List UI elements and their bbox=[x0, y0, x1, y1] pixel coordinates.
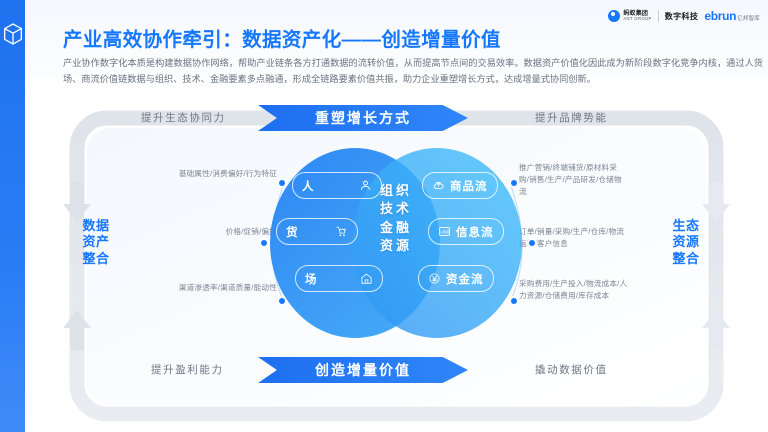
annotation-right-2: 订单/销量/采购/生产/仓库/物流运输/客户信息 bbox=[519, 226, 631, 250]
annotation-left-1: 基础属性/消费偏好/行为特征 bbox=[177, 168, 277, 180]
venn-diagram: 人 货 场 商品流 bbox=[270, 148, 522, 338]
label-bottom-right: 撬动数据价值 bbox=[535, 362, 608, 377]
annotation-right-1: 推广营销/终端铺货/原材料采购/销售/生产/产品研发/仓储物流 bbox=[519, 162, 627, 197]
ebrun-logo: ebrun 亿邦智库 bbox=[704, 9, 760, 23]
venn-item-huo-label: 货 bbox=[286, 224, 299, 240]
side-label-left: 数据 资产 整合 bbox=[65, 218, 127, 267]
venn-center-label: 组织 技术 金融 资源 bbox=[380, 182, 424, 256]
venn-item-info-flow-label: 信息流 bbox=[456, 224, 494, 240]
venn-item-goods-flow-label: 商品流 bbox=[450, 178, 488, 194]
logo-divider bbox=[658, 10, 659, 22]
house-icon bbox=[360, 272, 373, 285]
diagram-canvas: 重塑增长方式 创造增量价值 提升生态协同力 提升品牌势能 提升盈利能力 撬动数据… bbox=[25, 100, 768, 432]
person-icon bbox=[359, 179, 372, 192]
venn-item-money-flow-label: 资金流 bbox=[446, 271, 484, 287]
left-rail bbox=[0, 0, 25, 432]
connector-dot bbox=[261, 240, 267, 246]
page-title: 产业高效协作牵引：数据资产化——创造增量价值 bbox=[63, 23, 501, 52]
yuan-icon bbox=[428, 272, 441, 285]
bar-chart-icon bbox=[438, 225, 451, 238]
ant-group-logo: 蚂蚁集团 ANT GROUP bbox=[608, 10, 651, 22]
label-top-right: 提升品牌势能 bbox=[535, 110, 608, 125]
connector-dot bbox=[529, 240, 535, 246]
ebrun-wordmark: ebrun bbox=[704, 9, 736, 23]
cart-icon bbox=[335, 225, 348, 238]
ant-group-en: ANT GROUP bbox=[623, 17, 651, 21]
annotation-left-2: 价格/促销/偏好 bbox=[177, 226, 277, 238]
ant-mark-icon bbox=[608, 10, 620, 22]
venn-item-goods-flow[interactable]: 商品流 bbox=[422, 172, 498, 199]
venn-item-money-flow[interactable]: 资金流 bbox=[418, 265, 494, 292]
label-top-left: 提升生态协同力 bbox=[141, 110, 226, 125]
venn-item-ren-label: 人 bbox=[302, 178, 315, 194]
ebrun-sub-label: 亿邦智库 bbox=[737, 14, 760, 22]
venn-item-ren[interactable]: 人 bbox=[292, 172, 382, 199]
banner-top[interactable]: 重塑增长方式 bbox=[258, 105, 468, 131]
venn-item-huo[interactable]: 货 bbox=[276, 218, 358, 245]
cloud-icon bbox=[432, 179, 445, 192]
page-description: 产业协作数字化本质是构建数据协作网络，帮助产业链条各方打通数据的流转价值，从而提… bbox=[63, 55, 763, 87]
venn-item-chang[interactable]: 场 bbox=[295, 265, 383, 292]
ant-digital-tech-label: 数字科技 bbox=[665, 11, 699, 22]
banner-bottom[interactable]: 创造增量价值 bbox=[258, 357, 468, 383]
annotation-right-3: 采购费用/生产投入/物流成本/人力资源/仓储费用/库存成本 bbox=[519, 278, 631, 302]
annotation-left-3: 渠道渗透率/渠道质量/能动性 bbox=[143, 282, 277, 294]
venn-item-chang-label: 场 bbox=[305, 271, 318, 287]
side-label-right: 生态 资源 整合 bbox=[655, 218, 717, 267]
cube-icon bbox=[3, 22, 23, 46]
brand-logo-bar: 蚂蚁集团 ANT GROUP 数字科技 ebrun 亿邦智库 bbox=[608, 7, 760, 25]
label-bottom-left: 提升盈利能力 bbox=[151, 362, 224, 377]
venn-item-info-flow[interactable]: 信息流 bbox=[428, 218, 504, 245]
header: 蚂蚁集团 ANT GROUP 数字科技 ebrun 亿邦智库 产业高效协作牵引：… bbox=[25, 0, 768, 102]
